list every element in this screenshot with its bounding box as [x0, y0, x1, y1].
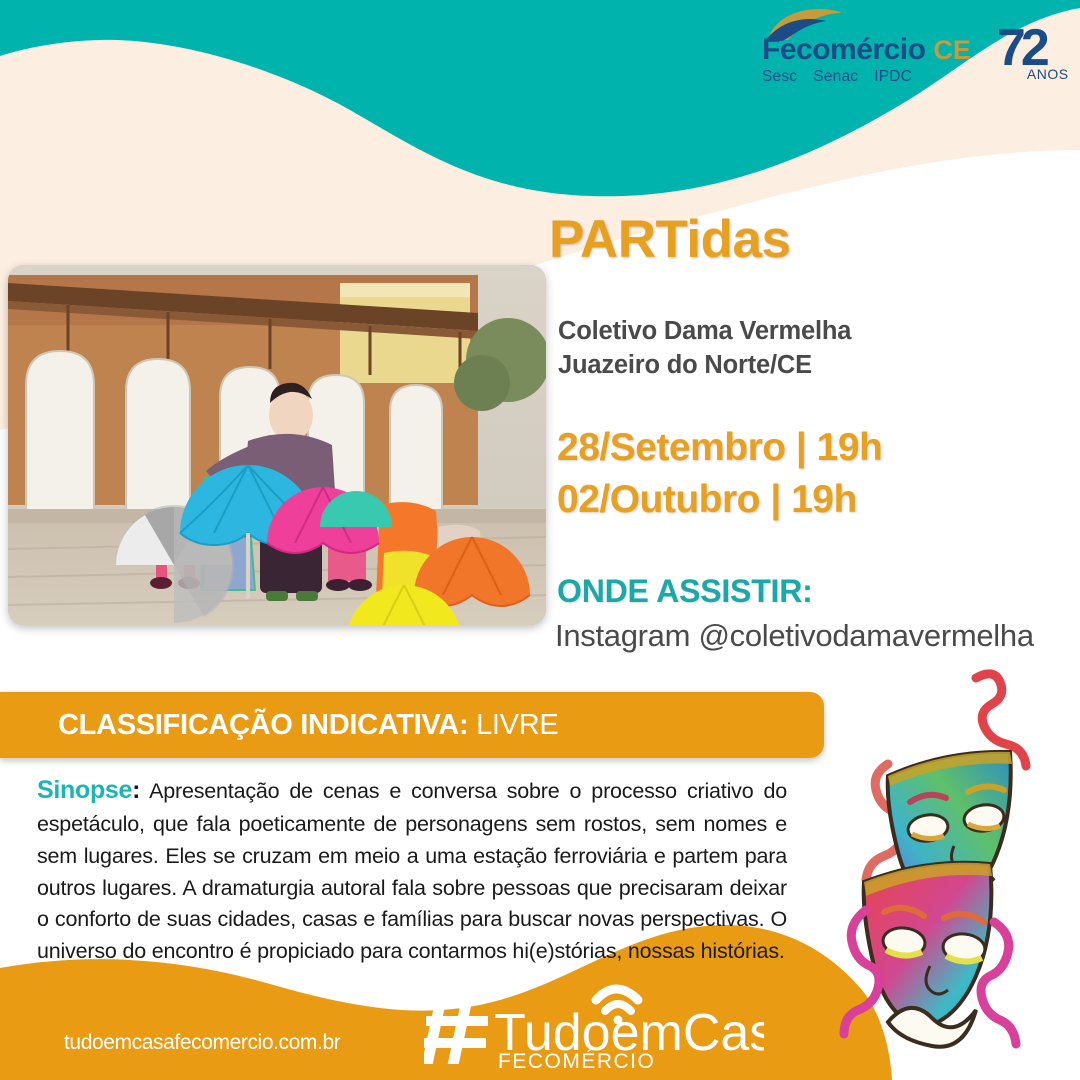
classification-label: CLASSIFICAÇÃO INDICATIVA:: [58, 709, 468, 741]
website-url[interactable]: tudoemcasafecomercio.com.br: [64, 1031, 340, 1055]
unit-ipdc: IPDC: [874, 68, 912, 86]
anniversary-word: ANOS: [1027, 66, 1069, 82]
photo-illustration: [8, 265, 546, 625]
unit-senac: Senac: [813, 68, 858, 86]
fecomercio-state: CE: [933, 37, 971, 64]
show-date-2: 02/Outubro | 19h: [557, 474, 882, 526]
synopsis-block: Sinopse: Apresentação de cenas e convers…: [37, 772, 787, 968]
group-info: Coletivo Dama Vermelha Juazeiro do Norte…: [558, 315, 851, 382]
show-date-1: 28/Setembro | 19h: [557, 422, 882, 474]
synopsis-text: Apresentação de cenas e conversa sobre o…: [37, 779, 787, 963]
where-label: ONDE ASSISTIR:: [557, 573, 813, 610]
campaign-sub: FECOMÉRCIO: [498, 1050, 655, 1070]
anniversary-logo: 72 ANOS: [997, 26, 1069, 86]
poster-root: Fecomércio CE Sesc Senac IPDC 72 ANOS: [0, 0, 1080, 1080]
tudoemcasa-logo-svg: TudoemCasa FECOMÉRCIO: [424, 978, 764, 1070]
group-city: Juazeiro do Norte/CE: [558, 349, 851, 383]
classification-bar: CLASSIFICAÇÃO INDICATIVA: LIVRE: [0, 692, 824, 758]
show-dates: 28/Setembro | 19h 02/Outubro | 19h: [557, 422, 882, 526]
theater-masks-illustration: [826, 660, 1076, 1080]
tragedy-mask: [864, 863, 992, 1047]
fecomercio-feather-icon: [764, 7, 844, 41]
synopsis-label: Sinopse: [37, 776, 132, 804]
fecomercio-units: Sesc Senac IPDC: [762, 68, 971, 86]
show-photo: [8, 265, 546, 625]
page-title: PARTidas: [549, 213, 790, 266]
fecomercio-logo: Fecomércio CE Sesc Senac IPDC: [762, 35, 971, 86]
unit-sesc: Sesc: [762, 68, 797, 86]
tudoemcasa-logo: TudoemCasa FECOMÉRCIO: [424, 978, 764, 1070]
hash-icon: [424, 998, 488, 1064]
classification-text: CLASSIFICAÇÃO INDICATIVA: LIVRE: [58, 709, 558, 742]
where-value[interactable]: Instagram @coletivodamavermelha: [555, 618, 1034, 654]
masks-svg: [826, 660, 1076, 1080]
group-name: Coletivo Dama Vermelha: [558, 315, 851, 349]
header-logos: Fecomércio CE Sesc Senac IPDC 72 ANOS: [762, 26, 1069, 86]
classification-value: LIVRE: [476, 709, 558, 741]
